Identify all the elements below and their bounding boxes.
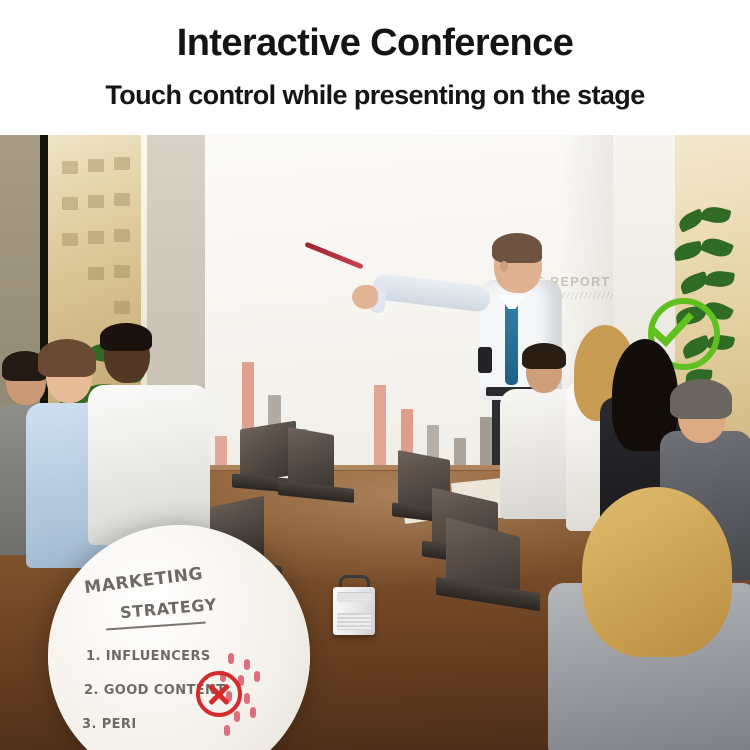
page-subtitle: Touch control while presenting on the st… [0, 80, 750, 111]
x-circle-icon [196, 671, 242, 717]
presenter-hand [352, 285, 378, 309]
remote-control [478, 347, 492, 373]
projector-control-panel[interactable] [337, 592, 371, 602]
page-title: Interactive Conference [0, 22, 750, 65]
promo-graphic: Interactive Conference Touch control whi… [0, 0, 750, 750]
whiteboard-inset: MARKETING STRATEGY 1. INFLUENCERS 2. GOO… [48, 525, 310, 750]
laptop-screen [288, 427, 334, 491]
whiteboard-list-item: 1. INFLUENCERS [86, 649, 211, 664]
projector-vent [337, 613, 371, 630]
presenter-tie [505, 303, 518, 385]
whiteboard-list-item: 3. PERI [82, 717, 137, 732]
conference-room-photo: THE REPORT [0, 135, 750, 750]
presenter-hair [492, 233, 542, 263]
presenter-ear [500, 261, 508, 272]
header-banner: Interactive Conference Touch control whi… [0, 0, 750, 135]
